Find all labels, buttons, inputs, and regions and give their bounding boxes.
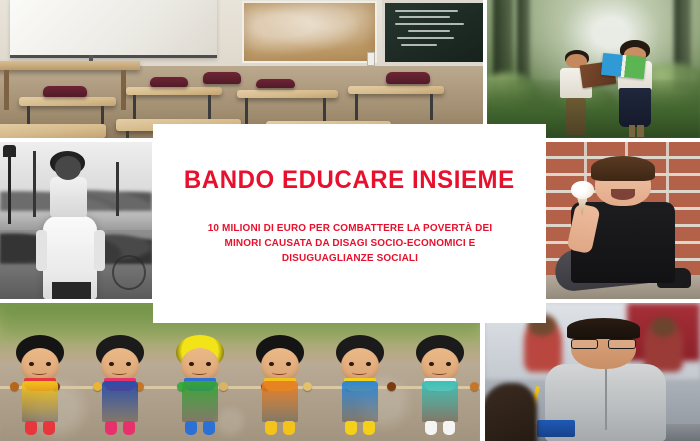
wooden-bead	[387, 382, 396, 391]
doll-native-american	[15, 333, 65, 435]
doll-legs	[105, 421, 135, 435]
teacher-desk	[0, 61, 140, 71]
doll-foot	[185, 421, 197, 435]
doll-legs	[185, 421, 215, 435]
doll-body	[102, 381, 138, 422]
gravel-ground	[0, 361, 480, 441]
ice-cream-scoop-icon	[571, 181, 594, 198]
doll-asian	[335, 333, 385, 435]
book-open-colour	[601, 53, 646, 79]
light-switch	[367, 52, 375, 66]
doll-head	[261, 348, 299, 383]
doll-foot	[283, 421, 295, 435]
wooden-bead	[470, 382, 479, 391]
bicycle-icon	[112, 255, 145, 290]
doll-foot	[123, 421, 135, 435]
child-head	[55, 156, 81, 180]
doll-foot	[203, 421, 215, 435]
doll-head	[341, 348, 379, 383]
doll-foot	[425, 421, 437, 435]
doll-blond	[175, 333, 225, 435]
doll-head	[181, 348, 219, 383]
student-chair	[386, 72, 429, 84]
student-desk	[19, 97, 116, 107]
bead-chain	[0, 383, 480, 390]
classroom2-scene	[485, 303, 700, 441]
adult-legs	[52, 282, 92, 299]
eyeglasses-icon	[571, 339, 636, 349]
doll-body	[22, 381, 58, 422]
doll-head	[421, 348, 459, 383]
title-card: BANDO EDUCARE INSIEME 10 MILIONI DI EURO…	[153, 124, 546, 323]
doll-foot	[265, 421, 277, 435]
doll-legs	[265, 421, 295, 435]
doll-legs	[25, 421, 55, 435]
hoodie-zip	[605, 368, 607, 430]
student-desk	[126, 87, 223, 95]
student-chair	[43, 86, 86, 97]
boy-with-glasses-photo-tile	[485, 303, 700, 441]
student-desk	[0, 124, 106, 138]
brick-wall-scene	[546, 142, 700, 299]
blackboard	[382, 0, 483, 65]
student-chair	[150, 77, 189, 87]
light-pole	[116, 162, 119, 215]
student-chair	[256, 79, 295, 89]
dolls-scene	[0, 303, 480, 441]
doll-head	[21, 348, 59, 383]
rope	[0, 386, 480, 389]
doll-legs	[345, 421, 375, 435]
doll-african	[255, 333, 305, 435]
classroom-scene	[0, 0, 483, 138]
student-chair	[203, 72, 242, 84]
student-desk	[348, 86, 445, 94]
child-on-shoulders-photo-tile	[0, 142, 152, 299]
student-desk	[237, 90, 338, 98]
doll-foot	[443, 421, 455, 435]
doll-foot	[25, 421, 37, 435]
doll-sailor	[95, 333, 145, 435]
light-pole	[33, 151, 36, 217]
doll-legs	[425, 421, 455, 435]
laughing-boy-photo-tile	[546, 142, 700, 299]
doll-body	[182, 381, 218, 422]
doll-foot	[345, 421, 357, 435]
boy-hair	[591, 156, 656, 181]
poster-root: BANDO EDUCARE INSIEME 10 MILIONI DI EURO…	[0, 0, 700, 441]
doll-inuit	[415, 333, 465, 435]
projector-screen	[10, 0, 218, 58]
boy-reading	[557, 50, 595, 136]
doll-foot	[43, 421, 55, 435]
wooden-dolls-photo-tile	[0, 303, 480, 441]
doll-body	[342, 381, 378, 422]
child-torso	[50, 177, 86, 218]
foreground-student	[485, 383, 537, 441]
pencil-case	[537, 420, 576, 437]
doll-body	[422, 381, 458, 422]
boy-hair	[567, 318, 640, 339]
park-bw-scene	[0, 142, 152, 299]
doll-body	[262, 381, 298, 422]
cork-board	[242, 1, 377, 63]
doll-head	[101, 348, 139, 383]
classroom-photo-tile	[0, 0, 483, 138]
doll-foot	[363, 421, 375, 435]
doll-foot	[105, 421, 117, 435]
poster-subtitle: 10 MILIONI DI EURO PER COMBATTERE LA POV…	[193, 221, 507, 266]
children-reading-photo-tile	[487, 0, 700, 138]
poster-title: BANDO EDUCARE INSIEME	[184, 166, 515, 195]
forest-scene	[487, 0, 700, 138]
